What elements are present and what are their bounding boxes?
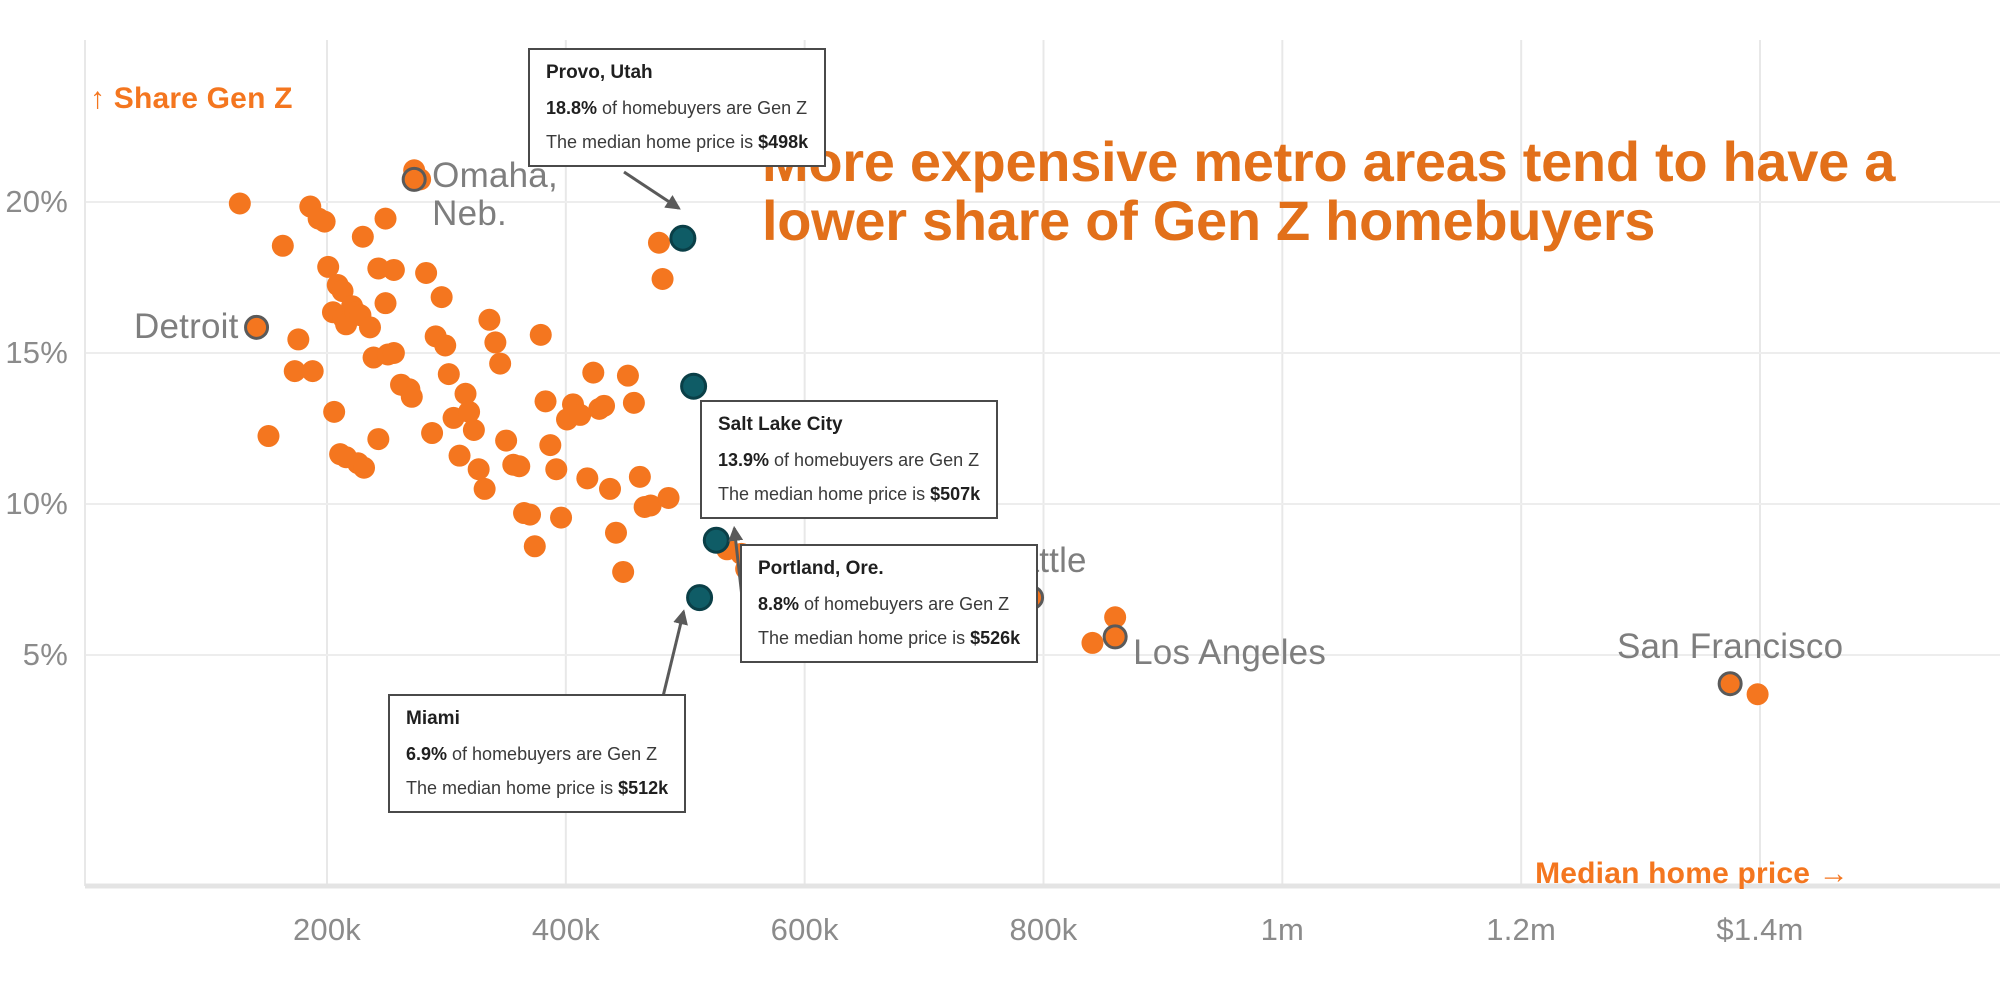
tooltip-share-text: of homebuyers are Gen Z	[769, 450, 979, 470]
x-tick-label: 1.2m	[1486, 912, 1556, 948]
headline-line-1: More expensive metro areas tend to have …	[762, 132, 1982, 191]
tooltip-title: Provo, Utah	[546, 63, 808, 82]
tooltip-price-value: $512k	[618, 778, 668, 798]
tooltip-share-value: 8.8%	[758, 594, 799, 614]
tooltip-portland[interactable]: Portland, Ore. 8.8% of homebuyers are Ge…	[740, 544, 1038, 663]
tooltip-price-value: $526k	[970, 628, 1020, 648]
tooltip-provo[interactable]: Provo, Utah 18.8% of homebuyers are Gen …	[528, 48, 826, 167]
tooltip-price-row: The median home price is $498k	[546, 133, 808, 151]
tooltip-share-text: of homebuyers are Gen Z	[799, 594, 1009, 614]
tooltip-price-value: $507k	[930, 484, 980, 504]
tooltip-price-row: The median home price is $512k	[406, 779, 668, 797]
tooltip-share-value: 18.8%	[546, 98, 597, 118]
tooltip-title: Portland, Ore.	[758, 559, 1020, 578]
tooltip-share-row: 6.9% of homebuyers are Gen Z	[406, 745, 668, 763]
tooltip-share-row: 13.9% of homebuyers are Gen Z	[718, 451, 980, 469]
arrow-to-provo	[624, 172, 679, 208]
chart-root: 200k400k600k800k1m1.2m$1.4m 20%15%10%5% …	[0, 0, 2000, 1007]
tooltip-title: Salt Lake City	[718, 415, 980, 434]
point-name-label: San Francisco	[1617, 628, 1843, 666]
y-tick-label: 20%	[0, 184, 68, 220]
point-name-label: Detroit	[134, 308, 239, 346]
tooltip-price-text: The median home price is	[546, 132, 758, 152]
x-tick-label: 400k	[532, 912, 600, 948]
tooltip-share-value: 6.9%	[406, 744, 447, 764]
tooltip-price-text: The median home price is	[758, 628, 970, 648]
headline-line-2: lower share of Gen Z homebuyers	[762, 191, 1982, 250]
chart-headline: More expensive metro areas tend to have …	[762, 132, 1982, 251]
y-tick-label: 5%	[0, 637, 68, 673]
tooltip-share-value: 13.9%	[718, 450, 769, 470]
tooltip-salt-lake-city[interactable]: Salt Lake City 13.9% of homebuyers are G…	[700, 400, 998, 519]
point-name-label: Los Angeles	[1133, 634, 1326, 672]
y-axis-title: ↑ Share Gen Z	[90, 82, 293, 116]
y-tick-label: 10%	[0, 486, 68, 522]
tooltip-share-row: 8.8% of homebuyers are Gen Z	[758, 595, 1020, 613]
tooltip-title: Miami	[406, 709, 668, 728]
tooltip-price-text: The median home price is	[406, 778, 618, 798]
x-tick-label: 600k	[771, 912, 839, 948]
x-tick-label: 800k	[1009, 912, 1077, 948]
x-axis-title: Median home price →	[1535, 857, 1849, 891]
tooltip-share-text: of homebuyers are Gen Z	[597, 98, 807, 118]
x-tick-label: 200k	[293, 912, 361, 948]
y-tick-label: 15%	[0, 335, 68, 371]
tooltip-price-row: The median home price is $526k	[758, 629, 1020, 647]
tooltip-price-value: $498k	[758, 132, 808, 152]
tooltip-share-text: of homebuyers are Gen Z	[447, 744, 657, 764]
tooltip-price-text: The median home price is	[718, 484, 930, 504]
tooltip-price-row: The median home price is $507k	[718, 485, 980, 503]
tooltip-miami[interactable]: Miami 6.9% of homebuyers are Gen Z The m…	[388, 694, 686, 813]
x-tick-label: 1m	[1261, 912, 1304, 948]
x-tick-label: $1.4m	[1716, 912, 1803, 948]
tooltip-share-row: 18.8% of homebuyers are Gen Z	[546, 99, 808, 117]
point-name-label: Omaha, Neb.	[432, 158, 558, 234]
